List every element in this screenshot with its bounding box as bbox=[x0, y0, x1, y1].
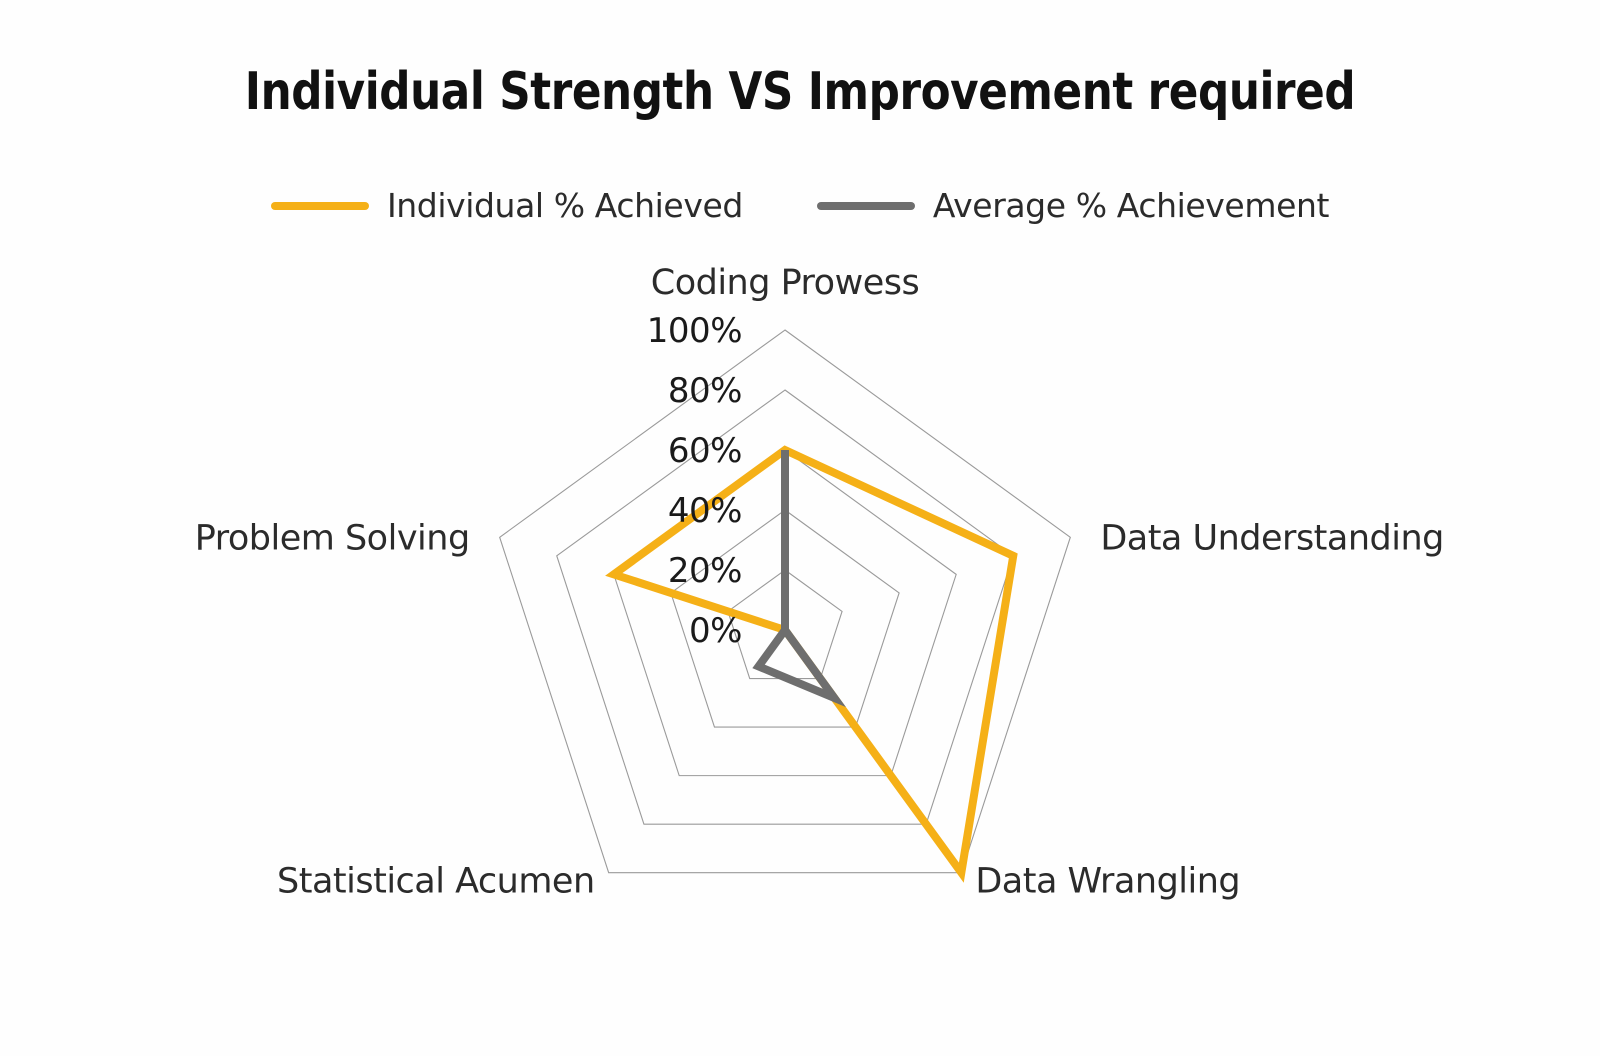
radial-tick-40: 40% bbox=[668, 491, 742, 531]
axis-label-statistical-acumen: Statistical Acumen bbox=[277, 862, 595, 902]
radar-series-average bbox=[759, 450, 835, 698]
radar-plot-area: 100% 80% 60% 40% 20% 0% Coding Prowess D… bbox=[0, 0, 1600, 1056]
radial-tick-60: 60% bbox=[668, 431, 742, 471]
radial-tick-0: 0% bbox=[689, 611, 742, 651]
radial-tick-80: 80% bbox=[668, 371, 742, 411]
axis-label-coding-prowess: Coding Prowess bbox=[651, 263, 919, 303]
axis-label-problem-solving: Problem Solving bbox=[195, 518, 470, 558]
axis-label-data-wrangling: Data Wrangling bbox=[975, 862, 1240, 902]
radar-chart-figure: Individual Strength VS Improvement requi… bbox=[0, 0, 1600, 1056]
radial-tick-100: 100% bbox=[647, 311, 742, 351]
axis-label-data-understanding: Data Understanding bbox=[1100, 518, 1444, 558]
category-axis-labels: Coding Prowess Data Understanding Data W… bbox=[195, 263, 1444, 902]
radial-tick-20: 20% bbox=[668, 551, 742, 591]
